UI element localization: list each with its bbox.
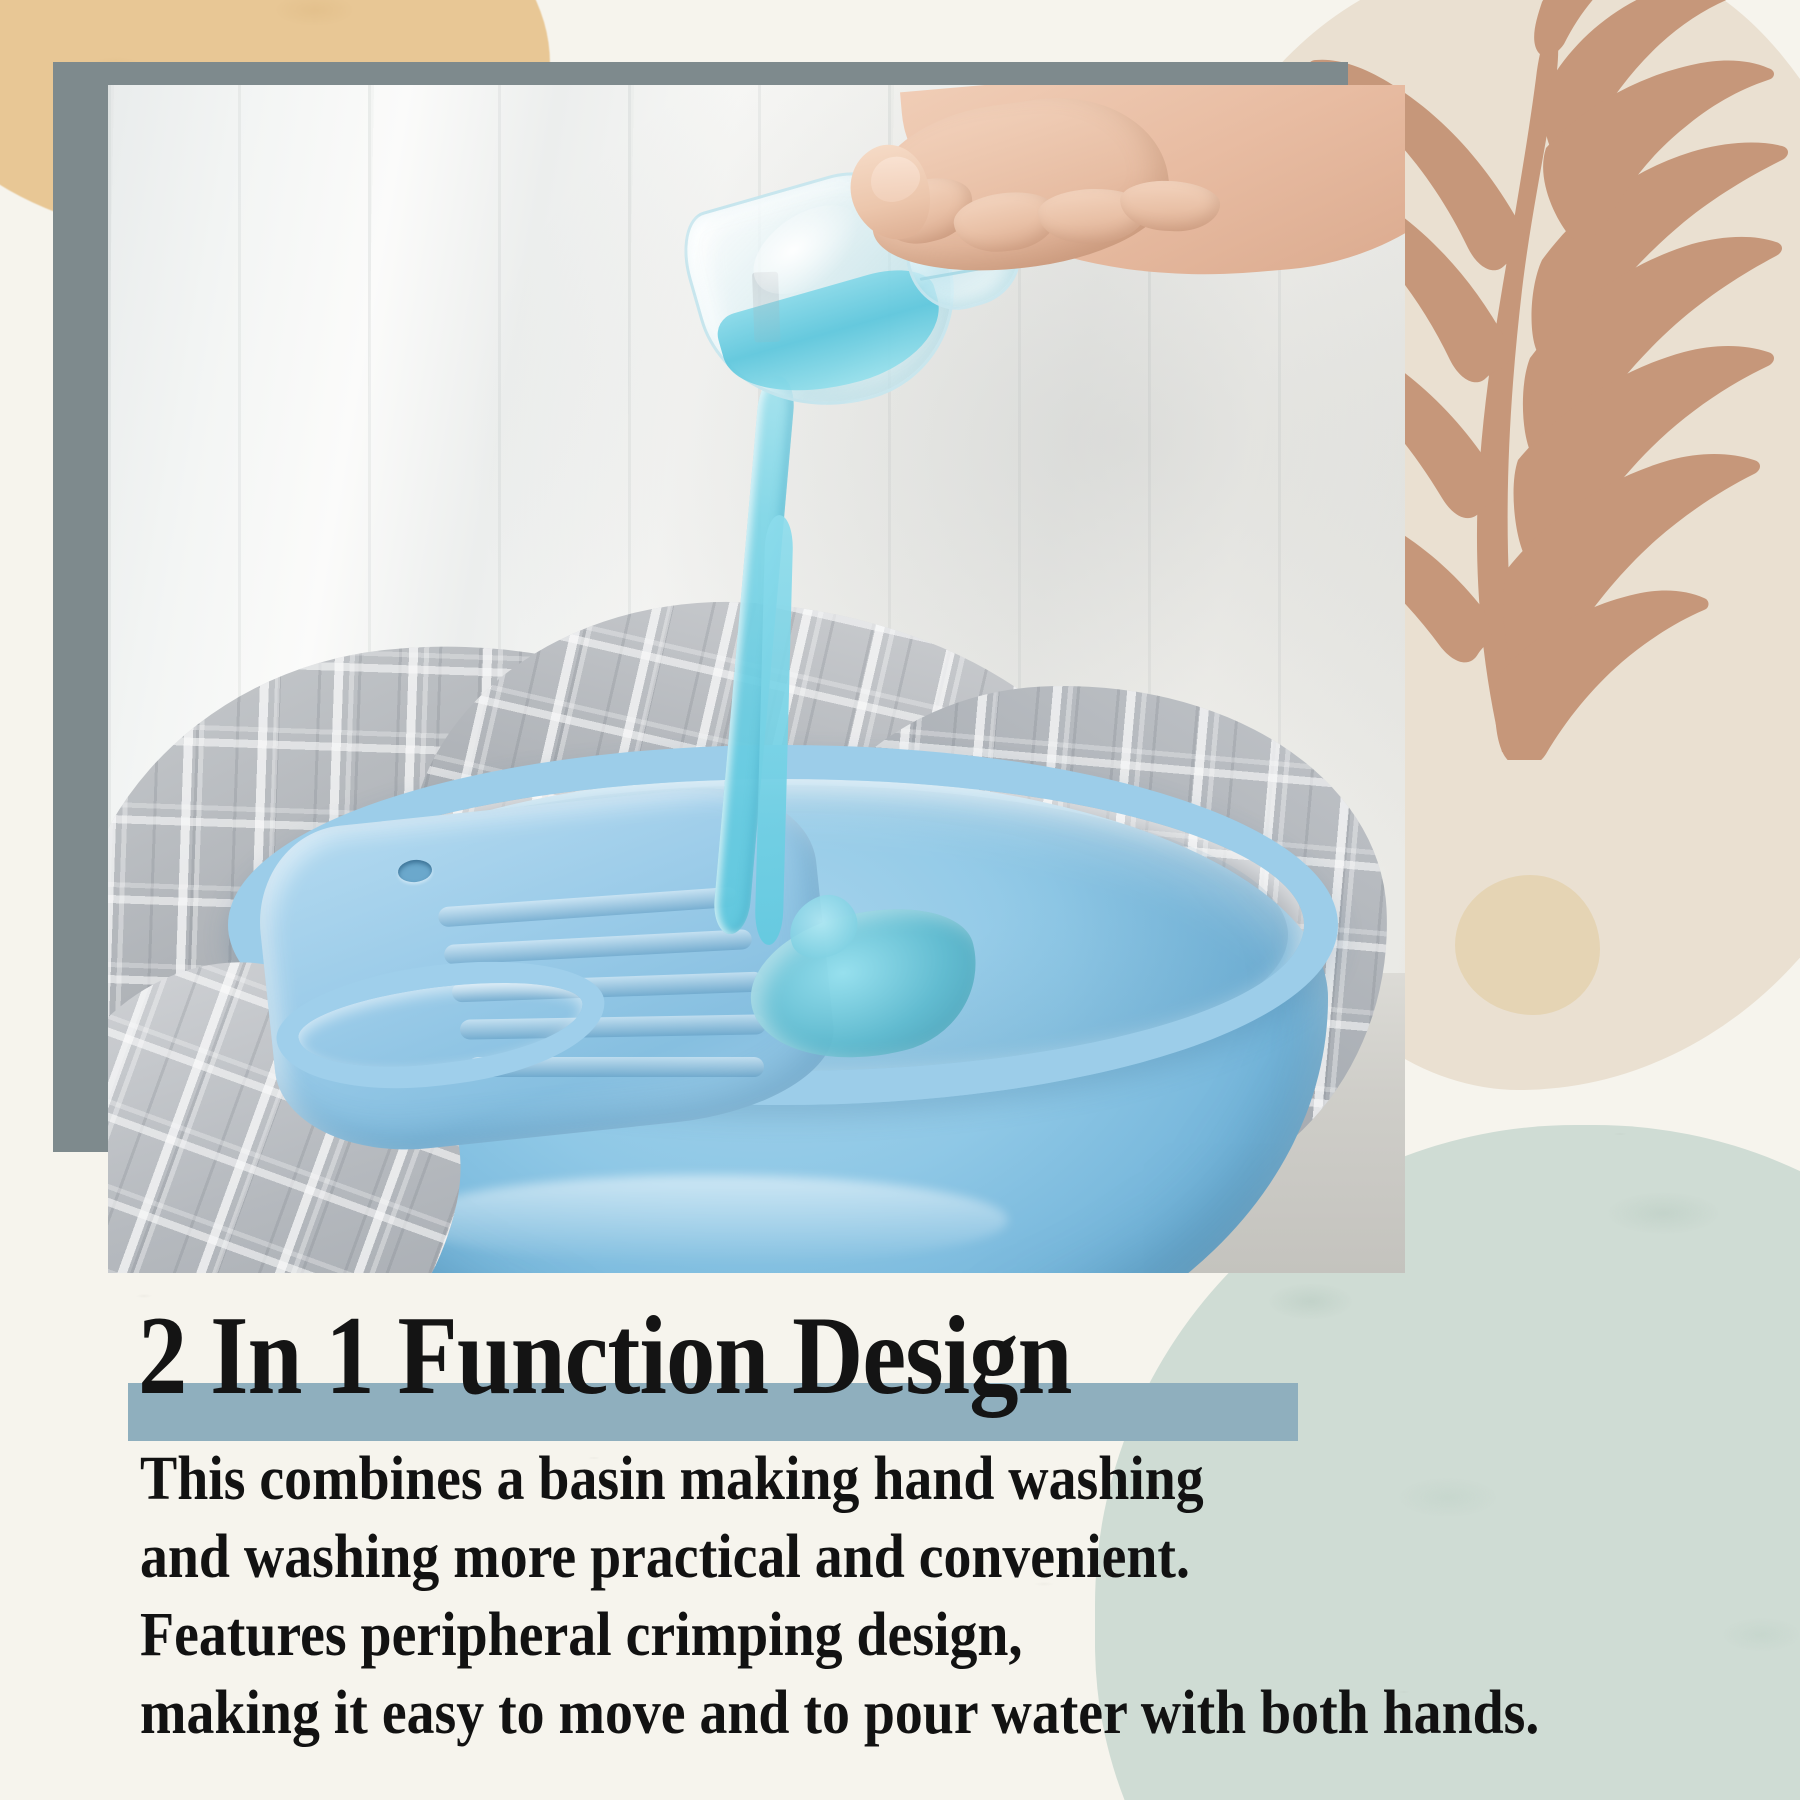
description-line: making it easy to move and to pour water… (140, 1674, 1598, 1752)
description-line: This combines a basin making hand washin… (140, 1440, 1598, 1518)
product-feature-poster: 2 In 1 Function Design This combines a b… (0, 0, 1800, 1800)
description-line: Features peripheral crimping design, (140, 1596, 1598, 1674)
page-title: 2 In 1 Function Design (138, 1290, 1072, 1422)
title-wrap: 2 In 1 Function Design (0, 1290, 1800, 1422)
caption-block: 2 In 1 Function Design This combines a b… (0, 1290, 1800, 1422)
product-photo (108, 85, 1405, 1273)
basin-gloss-highlight (408, 1175, 1008, 1265)
tan-circle-decoration (1455, 875, 1600, 1015)
description-text: This combines a basin making hand washin… (140, 1440, 1760, 1752)
description-line: and washing more practical and convenien… (140, 1518, 1598, 1596)
